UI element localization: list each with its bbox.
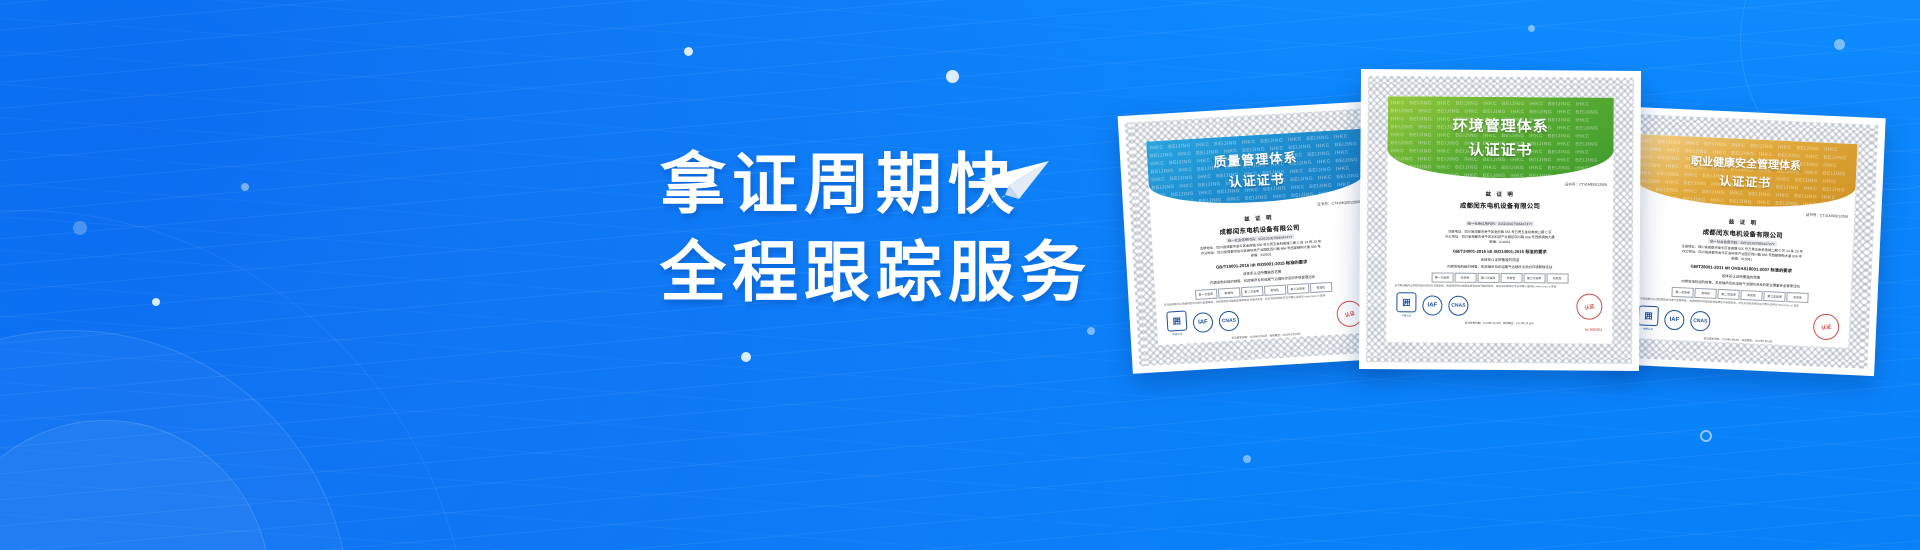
surveillance-cell: 第二次监审 (1477, 273, 1499, 283)
iaf-logo-icon: IAF (1664, 309, 1685, 330)
surveillance-cell: 有效性 (1546, 273, 1568, 283)
certificate-cluster: IHKC BEIJING IHKC BEIJING IHKC BEIJING I… (1125, 70, 1915, 400)
decorative-dot-ring (1700, 430, 1712, 442)
decorative-dot (684, 47, 693, 56)
certificate-header-band: IHKC BEIJING IHKC BEIJING IHKC BEIJING I… (1634, 134, 1858, 211)
expiry-date: 有效期至：2022年1月18日 (1269, 333, 1300, 338)
certificate-company: 成都闰东电机设备有限公司 (1393, 200, 1607, 210)
certificate-standard: GB/T24001-2016 idt ISO14001:2015 标准的要求 (1393, 248, 1607, 255)
seal-iaf: IAF (1192, 312, 1213, 333)
surveillance-cell: 第三次监审 (1286, 284, 1309, 295)
surveillance-cell: 第一次监审 (1431, 273, 1453, 283)
certificate-no-label: 证书号： (1565, 183, 1579, 187)
certificate-serial: No.0000001 (1392, 326, 1606, 333)
expiry-date: 有效期至：2022年1月18日 (1742, 339, 1773, 343)
decorative-dot (946, 70, 959, 83)
certificate-header-band: IHKC BEIJING IHKC BEIJING IHKC BEIJING I… (1387, 96, 1614, 179)
credit-code: 91510106756644747Y (1740, 241, 1774, 247)
decorative-dot (241, 183, 249, 191)
seal-iaf: IAF (1422, 295, 1442, 315)
cnas-logo-icon: CNAS (1448, 295, 1468, 315)
certificate-border: IHKC BEIJING IHKC BEIJING IHKC BEIJING I… (1366, 76, 1634, 364)
seal-cnas: CNAS (1448, 295, 1468, 315)
certificate-attest-word: 兹 证 明 (1393, 189, 1607, 198)
decorative-dot (1243, 455, 1251, 463)
certificate-safety[interactable]: IHKC BEIJING IHKC BEIJING IHKC BEIJING I… (1599, 106, 1885, 376)
surveillance-cell: 有效性 (1218, 288, 1241, 299)
certificate-body: 证书号：CT41ME0012006 兹 证 明 成都闰东电机设备有限公司 统一社… (1386, 177, 1613, 333)
credit-code: 91510106756644747Y (1498, 222, 1532, 226)
certificate-body: 证书号：CT41MQ0012006 兹 证 明 成都闰东电机设备有限公司 统一社… (1150, 196, 1374, 345)
seal-cnas: CNAS (1218, 310, 1239, 331)
certificate-address-3: 邮编：610031 (1393, 239, 1607, 245)
surveillance-cell: 第一次监审 (1671, 287, 1693, 298)
issue-date: 初次颁发日期：2019年1月18日 (1703, 337, 1739, 342)
seal-zhongding: 囲 中鼎认证 (1166, 311, 1187, 337)
surveillance-grid: 第一次监审 有效性 第二次监审 有效性 第三次监审 有效性 (1393, 272, 1607, 283)
decorative-dot (1528, 25, 1535, 32)
certificate-header-band: IHKC BEIJING IHKC BEIJING IHKC BEIJING I… (1146, 129, 1366, 209)
decorative-dot (1834, 39, 1845, 50)
certificate-border: IHKC BEIJING IHKC BEIJING IHKC BEIJING I… (1607, 113, 1879, 369)
promo-banner: 拿证周期快 全程跟踪服务 IHKC BEIJING IHKC BEIJING I… (0, 0, 1920, 550)
certificate-face: IHKC BEIJING IHKC BEIJING IHKC BEIJING I… (1386, 96, 1614, 344)
surveillance-cell: 有效性 (1454, 273, 1476, 283)
surveillance-cell: 第一次监审 (1195, 289, 1218, 300)
decorative-arc-large (0, 210, 470, 550)
surveillance-cell: 有效性 (1263, 285, 1286, 296)
iaf-logo-icon: IAF (1422, 295, 1442, 315)
surveillance-cell: 有效性 (1500, 273, 1522, 283)
certificate-no-label: 证书号： (1806, 213, 1821, 218)
certificate-title-line2: 认证证书 (1719, 172, 1772, 191)
certificate-scope-title: 该体系认证所覆盖的范围 (1393, 257, 1607, 263)
official-red-stamp-icon: 认证 (1811, 312, 1841, 342)
seal-zhongding: 囲 中鼎认证 (1638, 306, 1659, 332)
certificate-title-line1: 环境管理体系 (1453, 115, 1549, 137)
iaf-logo-icon: IAF (1192, 312, 1213, 333)
decorative-dot (152, 298, 160, 306)
decorative-dot (741, 352, 751, 362)
credit-code-label: 统一社会信用代码： (1468, 222, 1499, 226)
certificate-body: 证书号：CT41MS0012006 兹 证 明 成都闰东电机设备有限公司 统一社… (1627, 201, 1854, 348)
surveillance-cell: 第三次监审 (1763, 291, 1785, 302)
certificate-no: CT41ME0012006 (1579, 183, 1607, 187)
credit-code-label: 统一社会信用代码： (1710, 240, 1741, 245)
zhongding-logo-icon: 囲 (1638, 306, 1659, 327)
certificate-face: IHKC BEIJING IHKC BEIJING IHKC BEIJING I… (1146, 129, 1374, 345)
certificate-seals: 囲 中鼎认证 IAF CNAS 认证 (1392, 288, 1606, 319)
paper-plane-icon (975, 155, 1055, 207)
surveillance-cell: 有效性 (1694, 288, 1716, 299)
certificate-no-label: 证书号： (1317, 202, 1332, 207)
certificate-watermark: IHKC BEIJING IHKC BEIJING IHKC BEIJING I… (1387, 96, 1614, 179)
seal-zhongding: 囲 中鼎认证 (1396, 293, 1416, 318)
official-red-stamp-icon: 认证 (1574, 291, 1605, 322)
surveillance-cell: 有效性 (1740, 290, 1762, 301)
seal-cnas: CNAS (1690, 311, 1711, 332)
zhongding-logo-icon: 囲 (1166, 311, 1187, 332)
seal-iaf: IAF (1664, 309, 1685, 330)
surveillance-cell: 第二次监审 (1240, 286, 1263, 297)
certificate-face: IHKC BEIJING IHKC BEIJING IHKC BEIJING I… (1627, 134, 1857, 348)
decorative-dot (73, 221, 87, 235)
surveillance-cell: 有效性 (1786, 292, 1808, 303)
surveillance-cell: 第三次监审 (1523, 273, 1545, 283)
certificate-title-line2: 认证证书 (1468, 139, 1532, 160)
certificate-no: CT41MS0012006 (1820, 214, 1848, 219)
decorative-circle-2 (0, 420, 270, 550)
cnas-logo-icon: CNAS (1690, 311, 1711, 332)
certificate-no: CT41MQ0012006 (1331, 200, 1360, 206)
zhongding-logo-icon: 囲 (1396, 293, 1416, 313)
decorative-dot (1087, 327, 1095, 335)
certificate-border: IHKC BEIJING IHKC BEIJING IHKC BEIJING I… (1125, 108, 1395, 367)
cnas-logo-icon: CNAS (1218, 310, 1239, 331)
surveillance-cell: 第二次监审 (1717, 289, 1739, 300)
issue-date: 初次颁发日期：2019年1月18日 (1465, 322, 1501, 325)
certificate-environment[interactable]: IHKC BEIJING IHKC BEIJING IHKC BEIJING I… (1359, 69, 1641, 371)
surveillance-cell: 有效性 (1309, 282, 1332, 293)
decorative-circle-1 (0, 330, 350, 550)
certificate-scope: 内燃发电机组的销售、机房噪声及机组尾气治理所涉及的环境管理活动 (1393, 264, 1607, 270)
expiry-date: 有效期至：2022年1月18日 (1503, 322, 1534, 325)
certificate-title-line2: 认证证书 (1228, 168, 1285, 190)
